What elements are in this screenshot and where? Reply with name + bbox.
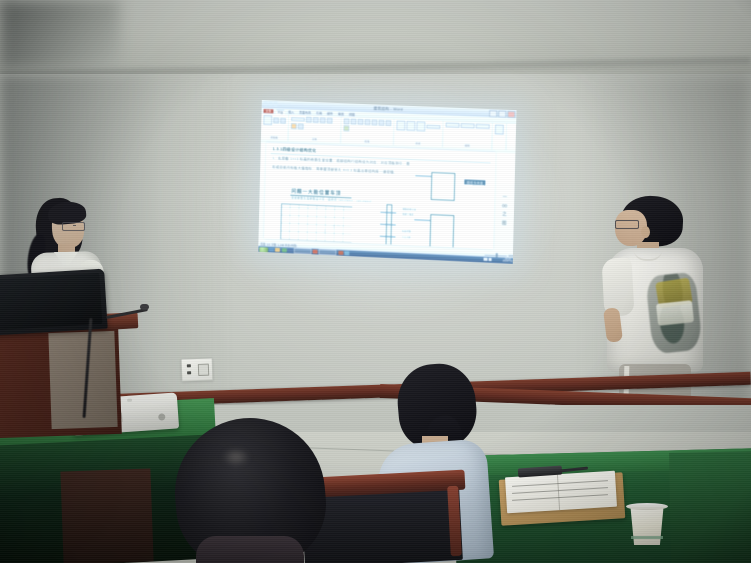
- taskbar-clock[interactable]: 10:15 2014/7/11: [503, 258, 513, 263]
- cad-callout-1: 钢筋验收记录: [402, 207, 416, 212]
- document-area[interactable]: 1.3.1四级设计结构优化 1、乱层截 1××3 标高的栋筋生室设置，底部结构行…: [258, 140, 515, 254]
- ribbon-group-styles[interactable]: 样式: [394, 119, 444, 147]
- chair-left[interactable]: [60, 468, 153, 563]
- font-name-box[interactable]: [291, 117, 305, 122]
- ribbon-group-help[interactable]: [492, 123, 507, 150]
- tab-view[interactable]: 视图: [348, 112, 356, 116]
- laptop-screen: [0, 273, 102, 330]
- folder-icon[interactable]: [275, 248, 280, 253]
- save-icon[interactable]: [264, 101, 268, 106]
- system-tray[interactable]: [484, 258, 492, 262]
- font-size-box[interactable]: [306, 117, 312, 123]
- ribbon-group-paragraph[interactable]: 段落: [341, 117, 394, 145]
- ie-icon[interactable]: [269, 247, 274, 252]
- window-title-text: 建筑结构 - Word: [374, 106, 403, 112]
- cad-column-elevation: [385, 204, 392, 249]
- tshirt-graphic-letters: [656, 300, 694, 326]
- group-label-font: 字体: [312, 137, 317, 141]
- align-center-icon[interactable]: [371, 119, 377, 125]
- page-right-margin-notes: 一 00 之 图: [497, 194, 513, 225]
- margin-char-4: 图: [502, 220, 507, 225]
- volume-icon[interactable]: [488, 258, 491, 261]
- cad-callout-2: 混凝土强度: [402, 212, 414, 217]
- indent-icon[interactable]: [357, 119, 363, 125]
- italic-icon[interactable]: [320, 117, 326, 123]
- tab-review[interactable]: 审阅: [337, 112, 345, 116]
- foreground-head-highlight: [222, 448, 250, 466]
- highlight-icon[interactable]: [291, 123, 297, 129]
- man-sleeve: [602, 257, 635, 316]
- undo-icon[interactable]: [269, 101, 273, 106]
- margin-char-3: 之: [502, 211, 507, 216]
- cut-icon[interactable]: [273, 117, 279, 123]
- taskbar-item-document[interactable]: [294, 247, 312, 254]
- tab-file[interactable]: 文件: [263, 109, 273, 113]
- document-stamp: 图纸专用章: [465, 179, 486, 185]
- clock-date: 2014/7/11: [503, 261, 513, 263]
- network-icon[interactable]: [484, 258, 487, 261]
- tab-mailings[interactable]: 邮件: [326, 112, 334, 116]
- cad-callout-4: 节点大样: [402, 235, 411, 239]
- paper-cup[interactable]: [628, 505, 666, 545]
- document-watermark-2: 建筑图纸: [413, 243, 434, 249]
- cad-leader-1: [415, 175, 431, 176]
- redo-icon[interactable]: [274, 101, 278, 106]
- style-heading1-icon[interactable]: [416, 121, 425, 131]
- paste-icon[interactable]: [263, 115, 272, 125]
- document-section-subtitle: 目前参数负载参数设计值（最终值 calculated / calculated）: [291, 196, 374, 204]
- cad-callout-3: 标高控制: [402, 229, 411, 233]
- cad-detail-box-top: [431, 172, 456, 201]
- media-icon[interactable]: [281, 248, 286, 253]
- wall-outlet-left[interactable]: [181, 357, 214, 381]
- tab-references[interactable]: 引用: [315, 111, 323, 115]
- ribbon-group-font[interactable]: 字体: [289, 115, 342, 143]
- cup-band: [631, 536, 663, 539]
- select-icon[interactable]: [476, 124, 490, 129]
- font-color-icon[interactable]: [298, 123, 304, 129]
- group-label-paragraph: 段落: [364, 139, 369, 143]
- style-nospacing-icon[interactable]: [406, 121, 415, 131]
- group-label-styles: 样式: [415, 141, 420, 145]
- bold-icon[interactable]: [313, 117, 319, 123]
- room-photo-scene: 建筑结构 - Word 文件 开始 插入 页面布局 引用 邮件 审阅 视图: [0, 0, 751, 563]
- cad-leader-2: [414, 219, 430, 221]
- underline-icon[interactable]: [327, 118, 333, 124]
- margin-char-1: 一: [502, 194, 507, 199]
- change-styles-icon[interactable]: [426, 124, 440, 129]
- presenter-glasses: [62, 222, 85, 231]
- margin-char-2: 00: [502, 203, 507, 208]
- ceiling-shadow: [0, 0, 120, 70]
- man-glasses: [615, 220, 639, 229]
- replace-icon[interactable]: [461, 123, 475, 128]
- cad-detail-box-bottom: [429, 214, 454, 249]
- tab-insert[interactable]: 插入: [287, 110, 295, 114]
- projected-screen: 建筑结构 - Word 文件 开始 插入 页面布局 引用 邮件 审阅 视图: [258, 100, 516, 264]
- copy-icon[interactable]: [280, 118, 286, 124]
- bullets-icon[interactable]: [344, 118, 350, 124]
- align-left-icon[interactable]: [364, 119, 370, 125]
- taskbar-item-drawing[interactable]: [319, 249, 337, 256]
- align-right-icon[interactable]: [378, 120, 384, 126]
- find-icon[interactable]: [445, 122, 459, 127]
- ribbon-group-clipboard[interactable]: 剪贴板: [261, 114, 289, 141]
- cup-rim: [626, 503, 668, 510]
- help-icon[interactable]: [495, 124, 504, 134]
- microphone-head: [140, 304, 149, 310]
- document-page[interactable]: 1.3.1四级设计结构优化 1、乱层截 1××3 标高的栋筋生室设置，底部结构行…: [264, 143, 495, 249]
- start-button-icon[interactable]: [259, 247, 268, 252]
- cad-icon[interactable]: [338, 250, 343, 255]
- group-label-editing: 编辑: [465, 143, 470, 147]
- line-spacing-icon[interactable]: [385, 120, 391, 126]
- man-ear: [641, 226, 650, 238]
- style-normal-icon[interactable]: [396, 120, 405, 130]
- shading-icon[interactable]: [343, 125, 349, 131]
- pdf-icon[interactable]: [313, 249, 318, 254]
- group-label-clipboard: 剪贴板: [270, 135, 278, 139]
- ribbon-group-editing[interactable]: 编辑: [443, 121, 493, 149]
- chair-post: [447, 486, 462, 556]
- chat-icon[interactable]: [344, 251, 349, 256]
- tab-page-layout[interactable]: 页面布局: [298, 110, 312, 115]
- foreground-person-neck: [196, 536, 304, 563]
- numbering-icon[interactable]: [350, 118, 356, 124]
- word-icon[interactable]: [288, 248, 293, 253]
- quick-access-toolbar[interactable]: [264, 101, 278, 107]
- tab-home[interactable]: 开始: [276, 109, 284, 114]
- far-right-table: [669, 451, 751, 563]
